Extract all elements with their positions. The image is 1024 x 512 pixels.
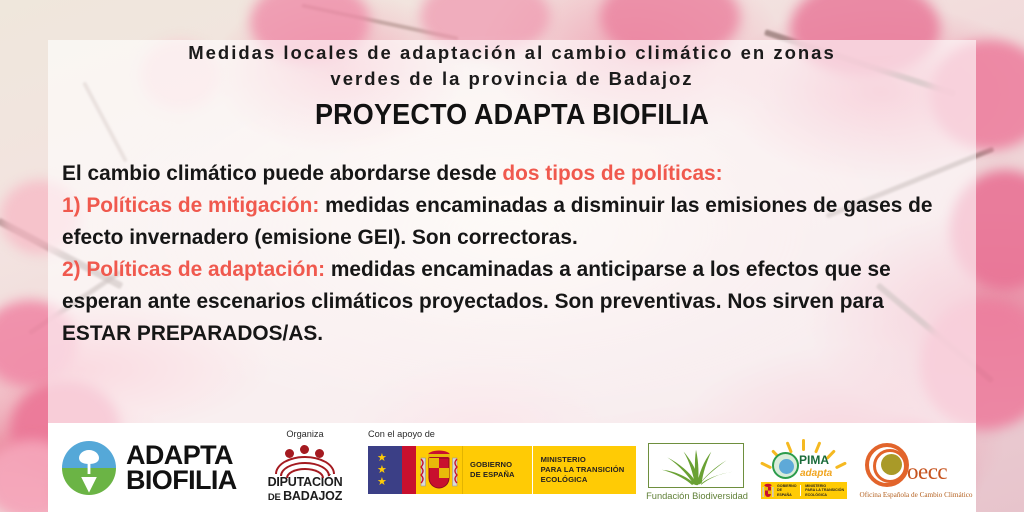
- ministerio-lines: MINISTERIO PARA LA TRANSICIÓN ECOLÓGICA: [541, 455, 636, 485]
- kicker-line-1: Medidas locales de adaptación al cambio …: [48, 40, 976, 66]
- gobierno-line-1: GOBIERNO: [470, 460, 515, 470]
- fundacion-logo-box: [648, 443, 744, 488]
- logo-fundacion-biodiversidad: Fundación Biodiversidad: [642, 423, 752, 512]
- adapta-biofilia-wordmark: ADAPTA BIOFILIA: [126, 443, 237, 493]
- gobierno-logo-box: ★ ★ ★ GOBIERN: [368, 446, 636, 494]
- gobierno-text-block: GOBIERNO DE ESPAÑA: [462, 446, 532, 494]
- mark-dot: [300, 445, 309, 454]
- oecc-caption: Oficina Española de Cambio Climático: [856, 491, 976, 499]
- oecc-mark-icon: oecc: [861, 441, 971, 489]
- globe-icon: [772, 452, 799, 479]
- diputacion-line-2: DE BADAJOZ: [244, 489, 366, 503]
- adapta-line-1: ADAPTA: [126, 443, 237, 468]
- intro-accent: dos tipos de políticas:: [502, 161, 722, 185]
- pima-strip-ministerio: MINISTERIO PARA LA TRANSICIÓN ECOLÓGICA: [803, 484, 847, 498]
- pima-block: PIMA adapta GOBIERNO DE ESPAÑA: [752, 439, 856, 499]
- policy-item-1: 1) Políticas de mitigación: medidas enca…: [62, 189, 935, 253]
- spain-coat-of-arms-icon: [416, 446, 462, 494]
- oecc-core-dot: [881, 454, 902, 475]
- diputacion-mark-icon: [275, 445, 335, 473]
- diputacion-badajoz: BADAJOZ: [283, 489, 342, 503]
- ministerio-text-block: MINISTERIO PARA LA TRANSICIÓN ECOLÓGICA: [532, 446, 636, 494]
- heading-block: Medidas locales de adaptación al cambio …: [48, 40, 976, 132]
- ministerio-line-1: MINISTERIO: [541, 455, 636, 465]
- adapta-line-2: BIOFILIA: [126, 468, 237, 493]
- pima-strip-line-2: DE ESPAÑA: [777, 488, 797, 497]
- spain-coat-of-arms-icon-small: [761, 482, 775, 499]
- sun-ray: [760, 461, 772, 469]
- logo-diputacion-badajoz: Organiza DIPUTACIÓN DE BADAJOZ: [244, 423, 366, 512]
- gobierno-lines: GOBIERNO DE ESPAÑA: [470, 460, 515, 480]
- intro-text: El cambio climático puede abordarse desd…: [62, 161, 502, 185]
- logo-adapta-biofilia: ADAPTA BIOFILIA: [48, 423, 244, 512]
- caption-con-el-apoyo-de: Con el apoyo de: [366, 429, 642, 439]
- sun-rays-icon: PIMA adapta: [761, 439, 847, 479]
- pima-sub: adapta: [800, 468, 832, 479]
- policy-1-label: 1) Políticas de mitigación:: [62, 193, 319, 217]
- pima-strip-gobierno: GOBIERNO DE ESPAÑA: [775, 484, 797, 498]
- oecc-block: oecc Oficina Española de Cambio Climátic…: [856, 441, 976, 489]
- intro-paragraph: El cambio climático puede abordarse desd…: [62, 157, 935, 189]
- oecc-wordmark: oecc: [907, 459, 947, 485]
- diputacion-block: DIPUTACIÓN DE BADAJOZ: [244, 445, 366, 503]
- eu-flag-icon: ★ ★ ★: [368, 446, 402, 494]
- pima-name: PIMA: [799, 453, 829, 467]
- logo-pima-adapta: PIMA adapta GOBIERNO DE ESPAÑA: [752, 423, 856, 512]
- ministerio-line-2: PARA LA TRANSICIÓN ECOLÓGICA: [541, 465, 636, 485]
- strip-divider: [800, 485, 801, 497]
- policy-2-label: 2) Políticas de adaptación:: [62, 257, 325, 281]
- caption-organiza: Organiza: [244, 429, 366, 439]
- page-title: PROYECTO ADAPTA BIOFILIA: [80, 99, 943, 132]
- footer-logo-strip: ADAPTA BIOFILIA Organiza DIPUTACIÓN DE B…: [48, 423, 976, 512]
- tree-icon: [74, 448, 104, 474]
- grass-icon: [649, 444, 743, 487]
- fundacion-caption: Fundación Biodiversidad: [642, 491, 752, 501]
- sun-ray: [835, 461, 847, 469]
- policy-item-2: 2) Políticas de adaptación: medidas enca…: [62, 253, 935, 349]
- adapta-biofilia-mark-icon: [62, 441, 116, 495]
- gobierno-line-2: DE ESPAÑA: [470, 470, 515, 480]
- logo-gobierno-de-espana: Con el apoyo de ★ ★ ★: [366, 423, 642, 512]
- pima-strip2-line-2: PARA LA TRANSICIÓN ECOLÓGICA: [805, 488, 847, 497]
- kicker-line-2: verdes de la provincia de Badajoz: [48, 66, 976, 92]
- logo-oecc: oecc Oficina Española de Cambio Climátic…: [856, 423, 976, 512]
- diputacion-de: DE: [268, 492, 283, 503]
- sun-ray: [814, 441, 821, 453]
- body-copy: El cambio climático puede abordarse desd…: [62, 157, 935, 349]
- spain-flag-red-stripe: [402, 446, 416, 494]
- sun-ray: [802, 439, 805, 451]
- pima-gobierno-strip: GOBIERNO DE ESPAÑA MINISTERIO PARA LA TR…: [761, 482, 847, 499]
